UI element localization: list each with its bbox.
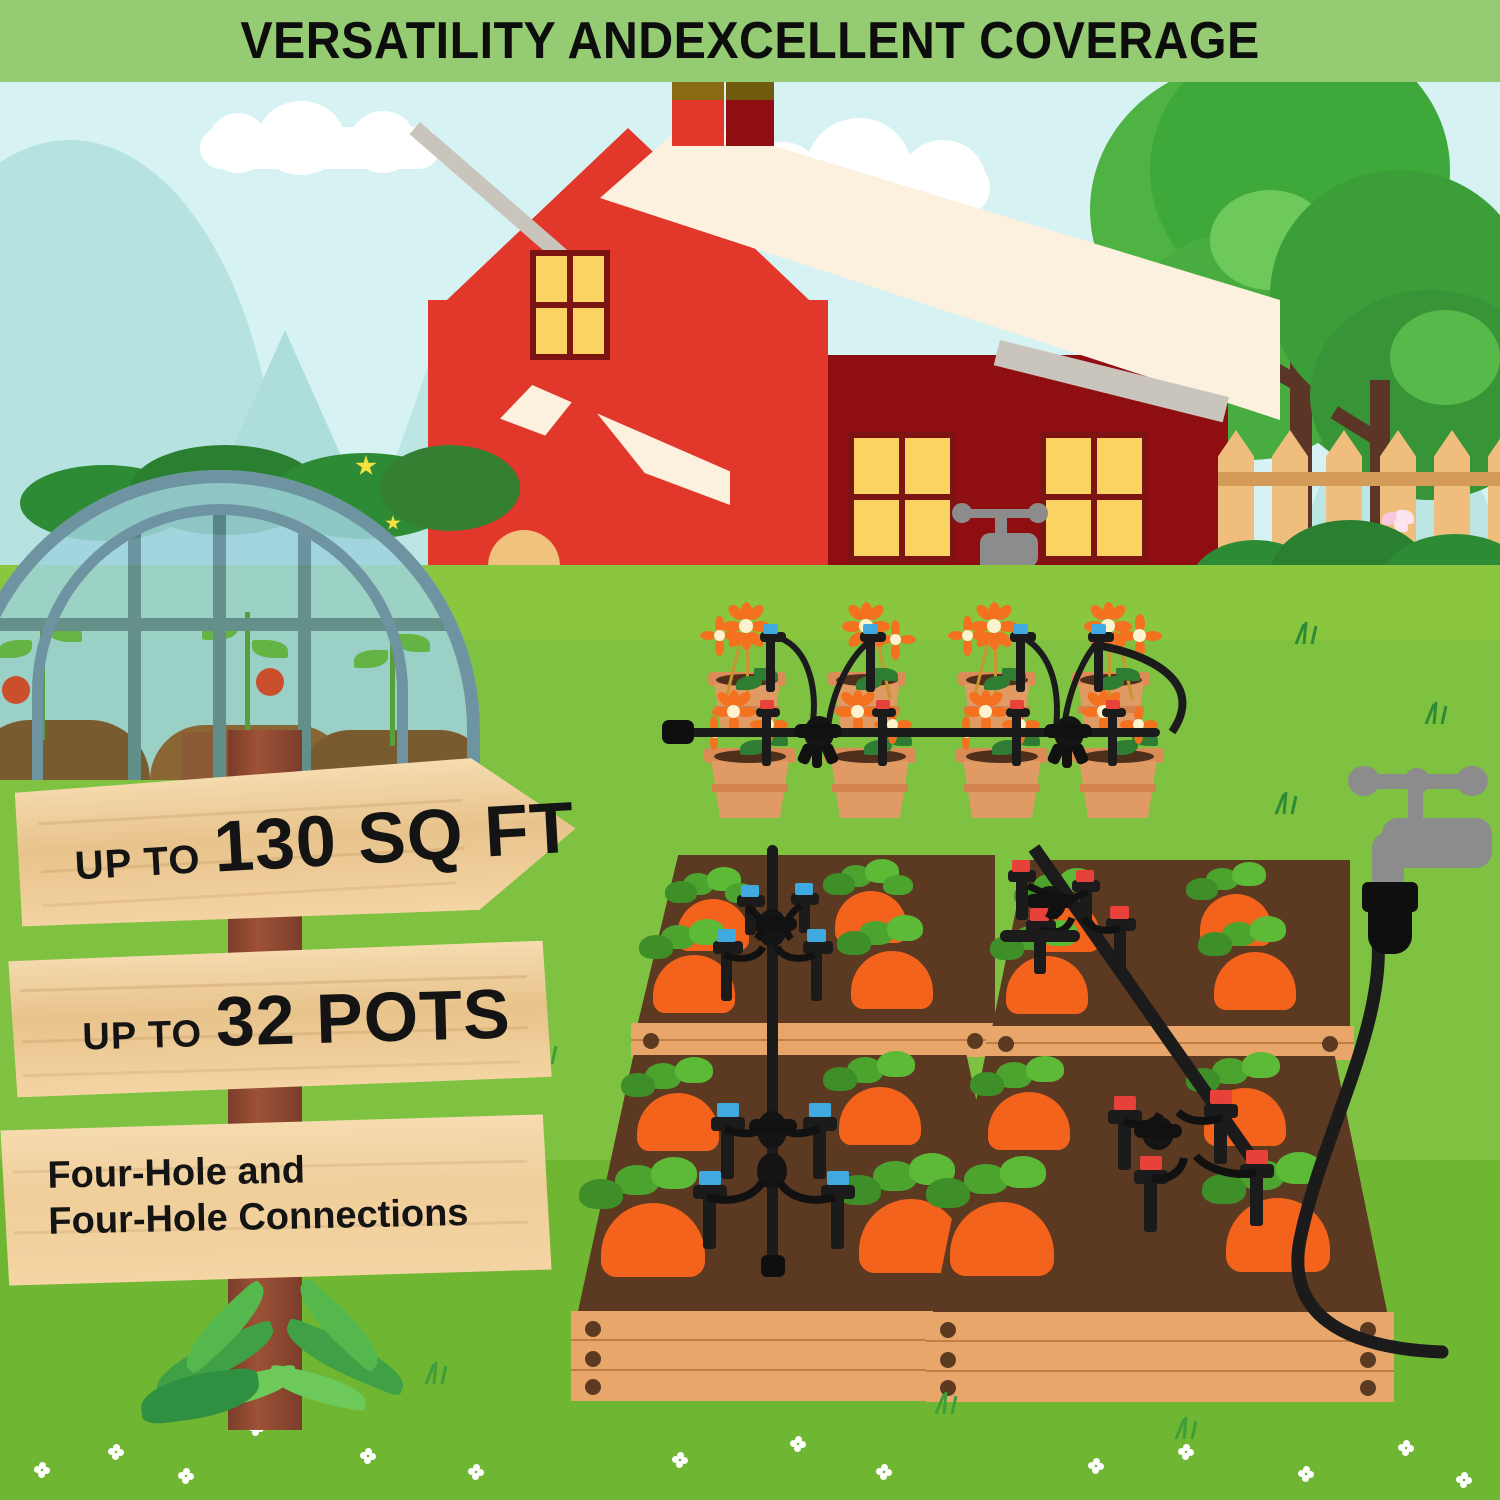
sprinkler-head-red	[876, 700, 890, 709]
sprinkler-head-red	[1010, 700, 1024, 709]
garden-faucet-hose	[1150, 940, 1500, 1420]
sign-connections-line2: Four-Hole Connections	[48, 1190, 469, 1245]
signpost: UP TO 130 SQ FT UP TO 32 POTS Four-Hole …	[0, 700, 600, 1440]
pot-front-3	[956, 748, 1048, 818]
page-title: VERSATILITY ANDEXCELLENT COVERAGE	[53, 0, 1448, 82]
tube-loop-right	[1090, 640, 1220, 760]
faucet-handle-knob-right	[1028, 503, 1048, 523]
signpost-base-foliage	[140, 1290, 420, 1450]
garden-faucet-adapter-body	[1368, 906, 1412, 954]
pot-front-1	[704, 748, 796, 818]
garden-faucet-knob-right	[1456, 766, 1488, 796]
bed-connector-hose	[1000, 930, 1080, 942]
sign-pots[interactable]: UP TO 32 POTS	[8, 940, 552, 1097]
bed-left-micro-tubing	[685, 885, 885, 1265]
sprinkler-head-red	[760, 700, 774, 709]
garden-faucet-knob-left	[1348, 766, 1380, 796]
sign-coverage[interactable]: UP TO 130 SQ FT	[14, 753, 580, 936]
title-banner: VERSATILITY ANDEXCELLENT COVERAGE	[0, 0, 1500, 82]
sign-connections[interactable]: Four-Hole and Four-Hole Connections	[0, 1114, 551, 1285]
chimney-base-right	[726, 100, 774, 146]
line-end-cap	[662, 720, 694, 744]
living-room-window-left	[848, 432, 956, 562]
attic-window	[530, 250, 610, 360]
pot-irrigation-group	[660, 580, 1200, 810]
chimney-base-left	[672, 100, 724, 146]
sign-pots-prefix: UP TO	[82, 1013, 203, 1059]
faucet-handle-knob-left	[952, 503, 972, 523]
sign-coverage-prefix: UP TO	[74, 837, 202, 889]
sign-pots-value: 32 POTS	[215, 974, 512, 1062]
living-room-window-right	[1040, 432, 1148, 562]
product-feature-image: UP TO 130 SQ FT UP TO 32 POTS Four-Hole …	[0, 0, 1500, 1500]
